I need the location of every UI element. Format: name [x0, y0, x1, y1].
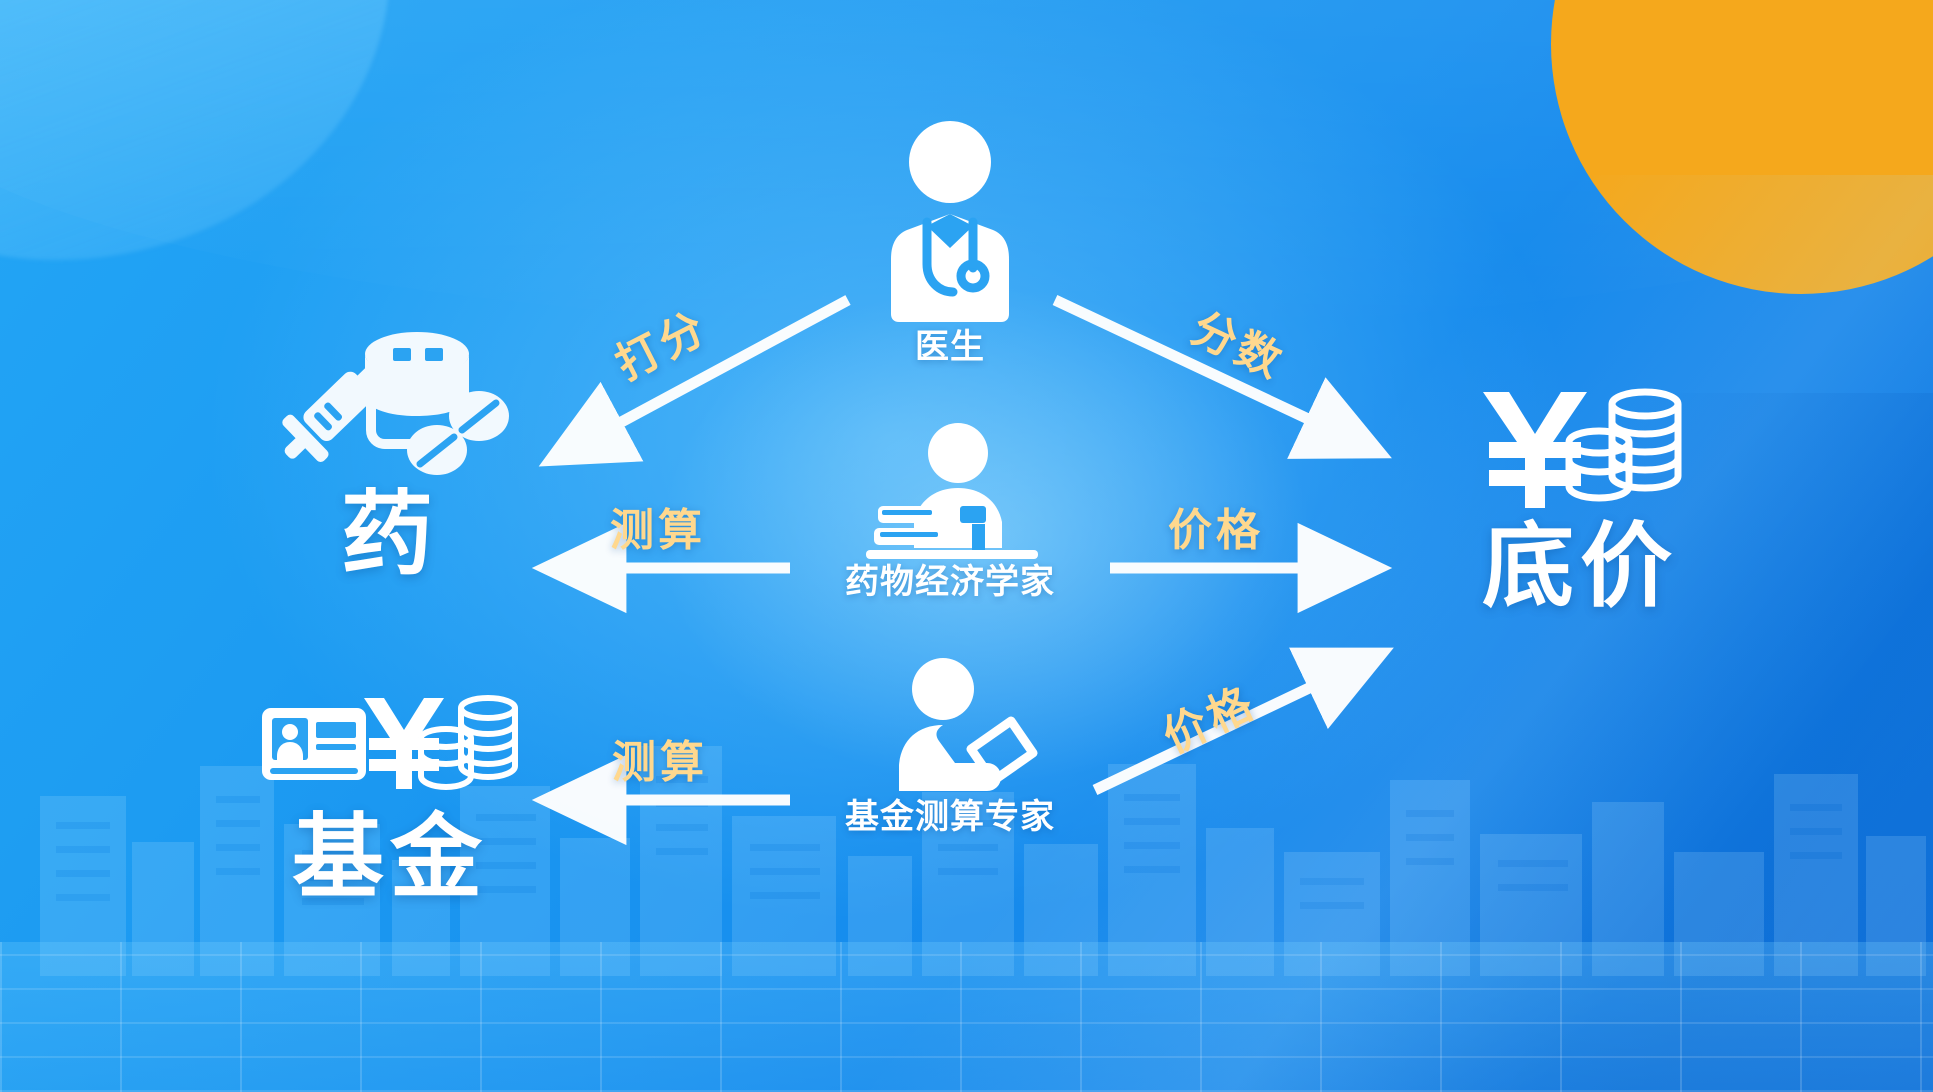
node-baseprice-label: 底价	[1420, 521, 1740, 613]
doctor-stethoscope-icon	[865, 118, 1035, 323]
person-with-tablet-icon	[835, 655, 1065, 795]
idcard-yen-coins-icon	[260, 690, 520, 810]
node-doctor-label: 医生	[830, 329, 1070, 366]
node-medicine[interactable]: 药	[240, 320, 540, 581]
node-pharmacoeconomist-label: 药物经济学家	[780, 564, 1120, 601]
arrow-label-ce-suan-medicine: 测算	[610, 494, 706, 558]
diagram-canvas: 打分 分数 测算 价格 测算 价格 医生	[0, 0, 1933, 1092]
node-medicine-label: 药	[240, 489, 540, 581]
person-with-books-icon	[830, 420, 1070, 560]
node-doctor[interactable]: 医生	[830, 118, 1070, 366]
node-baseprice[interactable]: 底价	[1420, 380, 1740, 613]
node-fund-expert-label: 基金测算专家	[780, 799, 1120, 836]
node-fund[interactable]: 基金	[240, 690, 540, 904]
node-fund-expert[interactable]: 基金测算专家	[780, 655, 1120, 836]
node-pharmacoeconomist[interactable]: 药物经济学家	[780, 420, 1120, 601]
arrow-label-jia-ge-pharma: 价格	[1168, 494, 1264, 558]
node-fund-label: 基金	[240, 812, 540, 904]
arrow-label-ce-suan-fund: 测算	[612, 726, 708, 790]
syringe-pillbottle-tablets-icon	[265, 320, 515, 485]
yen-coinstacks-icon	[1465, 380, 1695, 515]
